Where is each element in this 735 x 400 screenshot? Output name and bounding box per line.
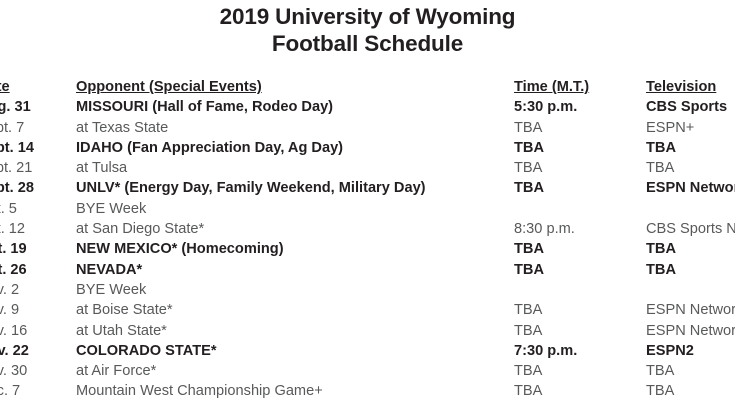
- table-row: Dec. 7Mountain West Championship Game+TB…: [0, 382, 735, 400]
- game-television: ESPN Network: [646, 301, 735, 320]
- game-television: TBA: [646, 261, 676, 280]
- game-date: Sept. 7: [0, 119, 74, 138]
- page-title: 2019 University of Wyoming Football Sche…: [0, 3, 735, 57]
- game-television: ESPN Network: [646, 179, 735, 198]
- game-television: ESPN+: [646, 119, 694, 138]
- game-opponent: at Air Force*: [76, 362, 156, 381]
- game-opponent: MISSOURI (Hall of Fame, Rodeo Day): [76, 98, 333, 117]
- game-television: TBA: [646, 382, 674, 400]
- game-opponent: BYE Week: [76, 200, 146, 219]
- game-opponent: at Texas State: [76, 119, 168, 138]
- column-header-time: Time (M.T.): [514, 78, 589, 97]
- table-row: Nov. 16at Utah State*TBAESPN Network: [0, 322, 735, 342]
- game-television: ESPN2: [646, 342, 694, 361]
- game-time: 7:30 p.m.: [514, 342, 577, 361]
- game-time: TBA: [514, 119, 542, 138]
- game-television: CBS Sports: [646, 98, 727, 117]
- table-row: Nov. 9at Boise State*TBAESPN Network: [0, 301, 735, 321]
- game-opponent: at San Diego State*: [76, 220, 204, 239]
- game-opponent: IDAHO (Fan Appreciation Day, Ag Day): [76, 139, 343, 158]
- game-opponent: at Boise State*: [76, 301, 173, 320]
- table-body: Aug. 31MISSOURI (Hall of Fame, Rodeo Day…: [0, 98, 735, 400]
- game-opponent: Mountain West Championship Game+: [76, 382, 323, 400]
- game-television: TBA: [646, 139, 676, 158]
- game-time: TBA: [514, 139, 544, 158]
- game-time: TBA: [514, 261, 544, 280]
- game-opponent: BYE Week: [76, 281, 146, 300]
- table-row: Nov. 2BYE Week: [0, 281, 735, 301]
- game-date: Aug. 31: [0, 98, 74, 117]
- table-row: Oct. 19NEW MEXICO* (Homecoming)TBATBA: [0, 240, 735, 260]
- game-time: TBA: [514, 362, 542, 381]
- table-row: Nov. 30at Air Force*TBATBA: [0, 362, 735, 382]
- column-header-television: Television: [646, 78, 716, 97]
- game-date: Nov. 22: [0, 342, 74, 361]
- game-time: TBA: [514, 159, 542, 178]
- schedule-table: Date Opponent (Special Events) Time (M.T…: [0, 78, 735, 400]
- table-row: Sept. 28UNLV* (Energy Day, Family Weeken…: [0, 179, 735, 199]
- game-date: Oct. 12: [0, 220, 74, 239]
- game-television: TBA: [646, 240, 676, 259]
- table-row: Oct. 5BYE Week: [0, 200, 735, 220]
- column-header-date: Date: [0, 78, 74, 97]
- game-opponent: at Tulsa: [76, 159, 127, 178]
- game-date: Sept. 14: [0, 139, 74, 158]
- column-header-opponent: Opponent (Special Events): [76, 78, 262, 97]
- game-date: Oct. 19: [0, 240, 74, 259]
- game-time: TBA: [514, 301, 542, 320]
- game-television: CBS Sports Network: [646, 220, 735, 239]
- table-row: Oct. 26NEVADA*TBATBA: [0, 261, 735, 281]
- table-row: Sept. 7at Texas StateTBAESPN+: [0, 119, 735, 139]
- game-opponent: UNLV* (Energy Day, Family Weekend, Milit…: [76, 179, 426, 198]
- game-time: 8:30 p.m.: [514, 220, 575, 239]
- game-date: Dec. 7: [0, 382, 74, 400]
- page-title-line-2: Football Schedule: [0, 30, 735, 57]
- table-row: Sept. 21at TulsaTBATBA: [0, 159, 735, 179]
- game-opponent: at Utah State*: [76, 322, 167, 341]
- game-date: Oct. 5: [0, 200, 74, 219]
- table-row: Aug. 31MISSOURI (Hall of Fame, Rodeo Day…: [0, 98, 735, 118]
- game-opponent: NEVADA*: [76, 261, 142, 280]
- page-title-line-1: 2019 University of Wyoming: [0, 3, 735, 30]
- game-date: Sept. 21: [0, 159, 74, 178]
- game-opponent: COLORADO STATE*: [76, 342, 217, 361]
- game-television: TBA: [646, 362, 674, 381]
- game-television: TBA: [646, 159, 674, 178]
- schedule-page: 2019 University of Wyoming Football Sche…: [0, 0, 735, 400]
- game-time: 5:30 p.m.: [514, 98, 577, 117]
- table-row: Sept. 14IDAHO (Fan Appreciation Day, Ag …: [0, 139, 735, 159]
- game-date: Nov. 16: [0, 322, 74, 341]
- game-time: TBA: [514, 322, 542, 341]
- game-time: TBA: [514, 240, 544, 259]
- game-time: TBA: [514, 179, 544, 198]
- table-row: Nov. 22COLORADO STATE*7:30 p.m.ESPN2: [0, 342, 735, 362]
- game-date: Nov. 9: [0, 301, 74, 320]
- table-row: Oct. 12at San Diego State*8:30 p.m.CBS S…: [0, 220, 735, 240]
- game-time: TBA: [514, 382, 542, 400]
- game-date: Nov. 2: [0, 281, 74, 300]
- game-television: ESPN Network: [646, 322, 735, 341]
- game-opponent: NEW MEXICO* (Homecoming): [76, 240, 284, 259]
- game-date: Sept. 28: [0, 179, 74, 198]
- game-date: Oct. 26: [0, 261, 74, 280]
- game-date: Nov. 30: [0, 362, 74, 381]
- table-header-row: Date Opponent (Special Events) Time (M.T…: [0, 78, 735, 98]
